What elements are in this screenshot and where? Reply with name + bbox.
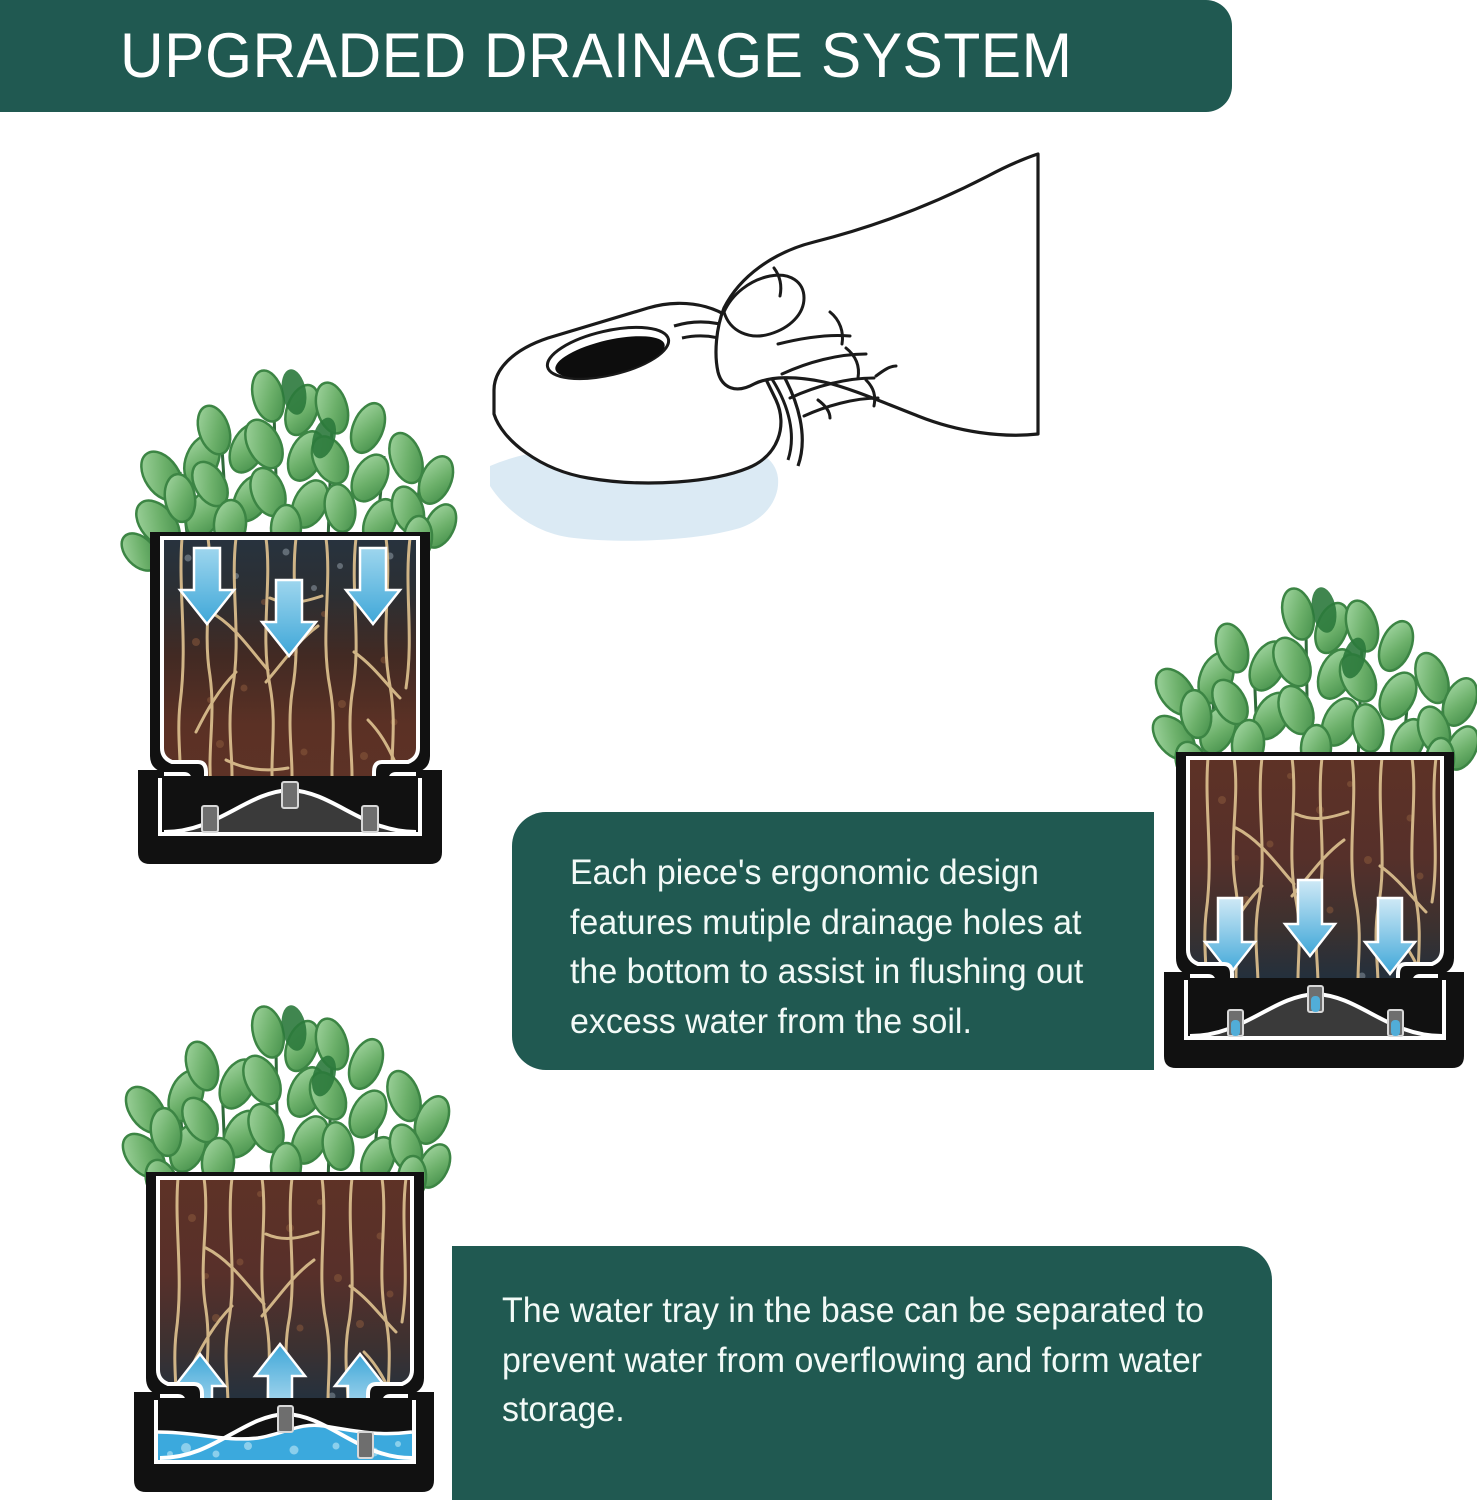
callout-drainage-holes: Each piece's ergonomic design features m… (512, 812, 1154, 1070)
water-storage-base-tray (148, 1398, 414, 1470)
header-banner: UPGRADED DRAINAGE SYSTEM (0, 0, 1232, 112)
drainage-base-tray (1178, 978, 1444, 1046)
callout-water-tray-text: The water tray in the base can be separa… (502, 1286, 1226, 1435)
page-title: UPGRADED DRAINAGE SYSTEM (120, 25, 1072, 88)
callout-drainage-holes-text: Each piece's ergonomic design features m… (570, 848, 1117, 1047)
planter-cutaway-water-storage (112, 1002, 464, 1502)
planter-cutaway-watering (118, 352, 462, 890)
planter-cutaway-draining (1146, 580, 1477, 1096)
hand-pouring-watering-can (478, 148, 1038, 568)
drainage-base-tray (152, 776, 428, 842)
callout-water-tray: The water tray in the base can be separa… (452, 1246, 1272, 1500)
